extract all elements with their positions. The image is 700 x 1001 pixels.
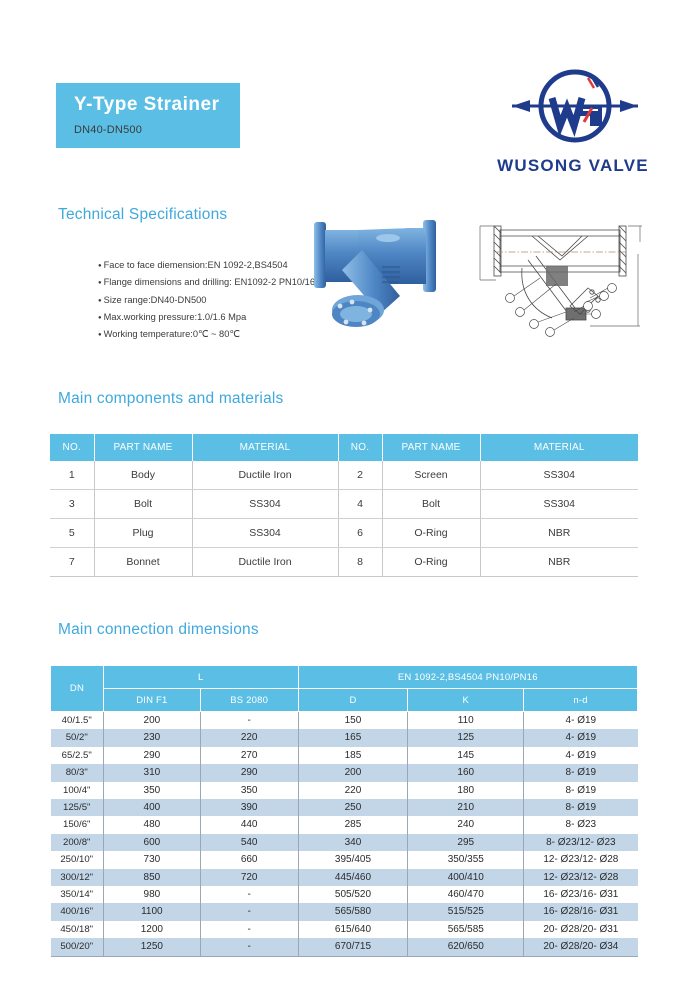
cell: - xyxy=(200,903,298,920)
cell: 350 xyxy=(200,782,298,799)
company-logo: WUSONG VALVE xyxy=(478,64,668,189)
cell: 150 xyxy=(298,712,408,730)
cell: 16- Ø23/16- Ø31 xyxy=(524,886,638,903)
cell: 730 xyxy=(103,851,200,868)
col-din-f1: DIN F1 xyxy=(103,689,200,712)
cell: 220 xyxy=(298,782,408,799)
cell: 445/460 xyxy=(298,869,408,886)
col-bs-2080: BS 2080 xyxy=(200,689,298,712)
table-header-sub-row: DIN F1 BS 2080 D K n-d xyxy=(51,689,638,712)
cell: 6 xyxy=(338,519,382,548)
cell: 615/640 xyxy=(298,921,408,938)
cell: 240 xyxy=(408,816,524,833)
table-row: 450/18" 1200 - 615/640 565/585 20- Ø28/2… xyxy=(51,921,638,938)
cell: 290 xyxy=(103,747,200,764)
table-row: 400/16" 1100 - 565/580 515/525 16- Ø28/1… xyxy=(51,903,638,920)
components-table: NO. PART NAME MATERIAL NO. PART NAME MAT… xyxy=(50,434,638,577)
table-row: 150/6" 480 440 285 240 8- Ø23 xyxy=(51,816,638,833)
cell: 20- Ø28/20- Ø34 xyxy=(524,938,638,956)
cell: 4 xyxy=(338,490,382,519)
cell: 390 xyxy=(200,799,298,816)
cell: 160 xyxy=(408,764,524,781)
cell: 8 xyxy=(338,548,382,577)
cell: 340 xyxy=(298,834,408,851)
cell: - xyxy=(200,938,298,956)
cell: 270 xyxy=(200,747,298,764)
cell-dn: 350/14" xyxy=(51,886,104,903)
cell: SS304 xyxy=(192,519,338,548)
table-row: 100/4" 350 350 220 180 8- Ø19 xyxy=(51,782,638,799)
cell: 1250 xyxy=(103,938,200,956)
cell: - xyxy=(200,921,298,938)
cell: NBR xyxy=(480,519,638,548)
cell: 200 xyxy=(103,712,200,730)
cell: 850 xyxy=(103,869,200,886)
col-n-d: n-d xyxy=(524,689,638,712)
table-header-row: NO. PART NAME MATERIAL NO. PART NAME MAT… xyxy=(50,434,638,461)
cell: 8- Ø19 xyxy=(524,764,638,781)
cell: 620/650 xyxy=(408,938,524,956)
table-row: 125/5" 400 390 250 210 8- Ø19 xyxy=(51,799,638,816)
cell: 185 xyxy=(298,747,408,764)
cell: Bolt xyxy=(382,490,480,519)
cell: 1 xyxy=(50,461,94,490)
section-drawing xyxy=(470,222,650,344)
cell: 400/410 xyxy=(408,869,524,886)
cell: 395/405 xyxy=(298,851,408,868)
col-part-name-2: PART NAME xyxy=(382,434,480,461)
cell: 4- Ø19 xyxy=(524,712,638,730)
cell: 180 xyxy=(408,782,524,799)
cell: 540 xyxy=(200,834,298,851)
cell-dn: 40/1.5" xyxy=(51,712,104,730)
datasheet-page: Y-Type Strainer DN40-DN500 WUSONG VALVE … xyxy=(0,0,700,1001)
cell: - xyxy=(200,886,298,903)
cell: - xyxy=(200,712,298,730)
cell: 1200 xyxy=(103,921,200,938)
cell: 4- Ø19 xyxy=(524,729,638,746)
cell: 8- Ø23 xyxy=(524,816,638,833)
cell-dn: 100/4" xyxy=(51,782,104,799)
cell: 230 xyxy=(103,729,200,746)
col-material-1: MATERIAL xyxy=(192,434,338,461)
cell: 8- Ø19 xyxy=(524,782,638,799)
cell: 290 xyxy=(200,764,298,781)
section-heading-dimensions: Main connection dimensions xyxy=(58,621,259,639)
cell: SS304 xyxy=(192,490,338,519)
cell: 1100 xyxy=(103,903,200,920)
cell-dn: 125/5" xyxy=(51,799,104,816)
col-material-2: MATERIAL xyxy=(480,434,638,461)
cell: 5 xyxy=(50,519,94,548)
cell: Screen xyxy=(382,461,480,490)
table-row: 7 Bonnet Ductile Iron 8 O-Ring NBR xyxy=(50,548,638,577)
cell: 3 xyxy=(50,490,94,519)
cell-dn: 400/16" xyxy=(51,903,104,920)
table-header-group-row: DN L EN 1092-2,BS4504 PN10/PN16 xyxy=(51,666,638,689)
cell-dn: 150/6" xyxy=(51,816,104,833)
col-group-l: L xyxy=(103,666,298,689)
table-row: 5 Plug SS304 6 O-Ring NBR xyxy=(50,519,638,548)
cell: 8- Ø19 xyxy=(524,799,638,816)
col-no-2: NO. xyxy=(338,434,382,461)
section-heading-technical: Technical Specifications xyxy=(58,206,227,224)
cell: 220 xyxy=(200,729,298,746)
cell: 480 xyxy=(103,816,200,833)
cell: 4- Ø19 xyxy=(524,747,638,764)
table-row: 80/3" 310 290 200 160 8- Ø19 xyxy=(51,764,638,781)
cell-dn: 500/20" xyxy=(51,938,104,956)
cell: Plug xyxy=(94,519,192,548)
cell: 210 xyxy=(408,799,524,816)
cell: 8- Ø23/12- Ø23 xyxy=(524,834,638,851)
cell: O-Ring xyxy=(382,548,480,577)
cell: 295 xyxy=(408,834,524,851)
cell-dn: 50/2" xyxy=(51,729,104,746)
cell: 565/585 xyxy=(408,921,524,938)
cell: 980 xyxy=(103,886,200,903)
col-no-1: NO. xyxy=(50,434,94,461)
cell: 670/715 xyxy=(298,938,408,956)
dimensions-table: DN L EN 1092-2,BS4504 PN10/PN16 DIN F1 B… xyxy=(50,665,638,957)
cell: 310 xyxy=(103,764,200,781)
cell: 2 xyxy=(338,461,382,490)
cell: 350/355 xyxy=(408,851,524,868)
cell: 565/580 xyxy=(298,903,408,920)
cell-dn: 65/2.5" xyxy=(51,747,104,764)
cell: Bolt xyxy=(94,490,192,519)
table-row: 50/2" 230 220 165 125 4- Ø19 xyxy=(51,729,638,746)
section-heading-components: Main components and materials xyxy=(58,390,284,408)
cell: 250 xyxy=(298,799,408,816)
cell: 110 xyxy=(408,712,524,730)
cell: 350 xyxy=(103,782,200,799)
cell: 720 xyxy=(200,869,298,886)
table-row: 1 Body Ductile Iron 2 Screen SS304 xyxy=(50,461,638,490)
page-subtitle: DN40-DN500 xyxy=(74,124,142,136)
table-row: 40/1.5" 200 - 150 110 4- Ø19 xyxy=(51,712,638,730)
cell: 285 xyxy=(298,816,408,833)
cell: 16- Ø28/16- Ø31 xyxy=(524,903,638,920)
cell: SS304 xyxy=(480,490,638,519)
cell: Body xyxy=(94,461,192,490)
cell-dn: 300/12" xyxy=(51,869,104,886)
cell: 12- Ø23/12- Ø28 xyxy=(524,851,638,868)
title-block: Y-Type Strainer DN40-DN500 xyxy=(56,83,240,148)
cell: 505/520 xyxy=(298,886,408,903)
col-group-en: EN 1092-2,BS4504 PN10/PN16 xyxy=(298,666,637,689)
cell: 440 xyxy=(200,816,298,833)
cell: 660 xyxy=(200,851,298,868)
page-title: Y-Type Strainer xyxy=(74,94,219,116)
cell: 20- Ø28/20- Ø31 xyxy=(524,921,638,938)
cell: 7 xyxy=(50,548,94,577)
table-row: 350/14" 980 - 505/520 460/470 16- Ø23/16… xyxy=(51,886,638,903)
table-row: 250/10" 730 660 395/405 350/355 12- Ø23/… xyxy=(51,851,638,868)
cell: 165 xyxy=(298,729,408,746)
table-row: 300/12" 850 720 445/460 400/410 12- Ø23/… xyxy=(51,869,638,886)
brand-name: WUSONG VALVE xyxy=(478,156,668,176)
wusong-logo-icon xyxy=(510,64,640,152)
col-dn: DN xyxy=(51,666,104,712)
table-row: 200/8" 600 540 340 295 8- Ø23/12- Ø23 xyxy=(51,834,638,851)
table-row: 500/20" 1250 - 670/715 620/650 20- Ø28/2… xyxy=(51,938,638,956)
cell: 12- Ø23/12- Ø28 xyxy=(524,869,638,886)
product-photo xyxy=(296,210,456,335)
table-row: 3 Bolt SS304 4 Bolt SS304 xyxy=(50,490,638,519)
col-d: D xyxy=(298,689,408,712)
table-row: 65/2.5" 290 270 185 145 4- Ø19 xyxy=(51,747,638,764)
cell: 145 xyxy=(408,747,524,764)
cell-dn: 80/3" xyxy=(51,764,104,781)
cell: 200 xyxy=(298,764,408,781)
col-k: K xyxy=(408,689,524,712)
col-part-name-1: PART NAME xyxy=(94,434,192,461)
cell-dn: 450/18" xyxy=(51,921,104,938)
cell: NBR xyxy=(480,548,638,577)
cell-dn: 200/8" xyxy=(51,834,104,851)
cell-dn: 250/10" xyxy=(51,851,104,868)
cell: Bonnet xyxy=(94,548,192,577)
cell: 125 xyxy=(408,729,524,746)
cell: O-Ring xyxy=(382,519,480,548)
cell: Ductile Iron xyxy=(192,548,338,577)
cell: 460/470 xyxy=(408,886,524,903)
cell: 400 xyxy=(103,799,200,816)
cell: 600 xyxy=(103,834,200,851)
cell: 515/525 xyxy=(408,903,524,920)
cell: Ductile Iron xyxy=(192,461,338,490)
cell: SS304 xyxy=(480,461,638,490)
